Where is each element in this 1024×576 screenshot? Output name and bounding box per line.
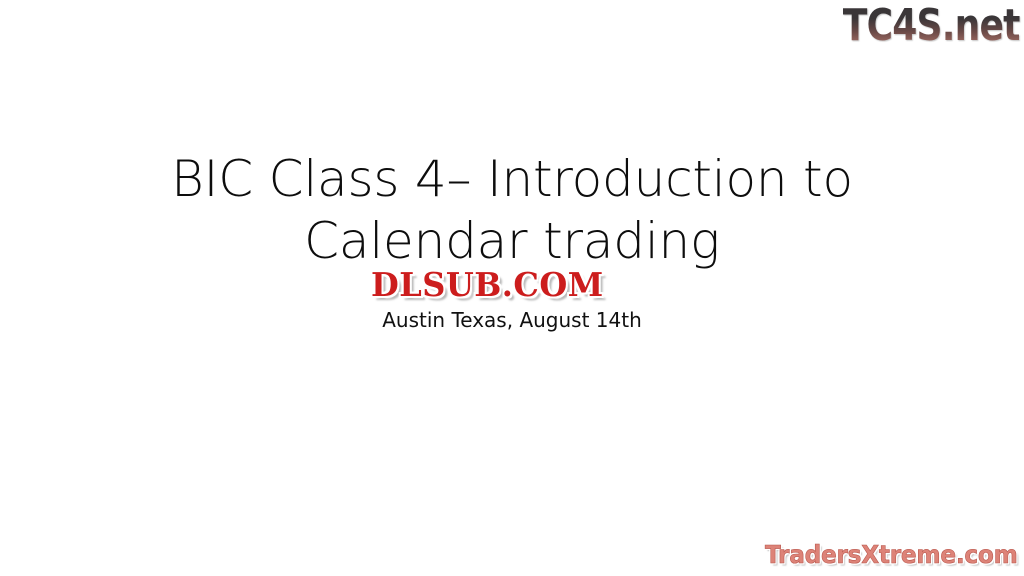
watermark-dlsub-com: DLSUB.COM	[371, 266, 604, 304]
watermark-tc4s-net: TC4S.net	[843, 2, 1020, 50]
slide-subtitle: Austin Texas, August 14th	[0, 307, 1024, 333]
slide-title-line-2: Calendar trading	[0, 210, 1024, 272]
slide-title-line-1: BIC Class 4– Introduction to	[0, 148, 1024, 210]
watermark-tradersxtreme-com: TradersXtreme.com	[765, 540, 1018, 570]
presentation-slide: TC4S.net BIC Class 4– Introduction to Ca…	[0, 0, 1024, 576]
slide-title: BIC Class 4– Introduction to Calendar tr…	[0, 148, 1024, 272]
